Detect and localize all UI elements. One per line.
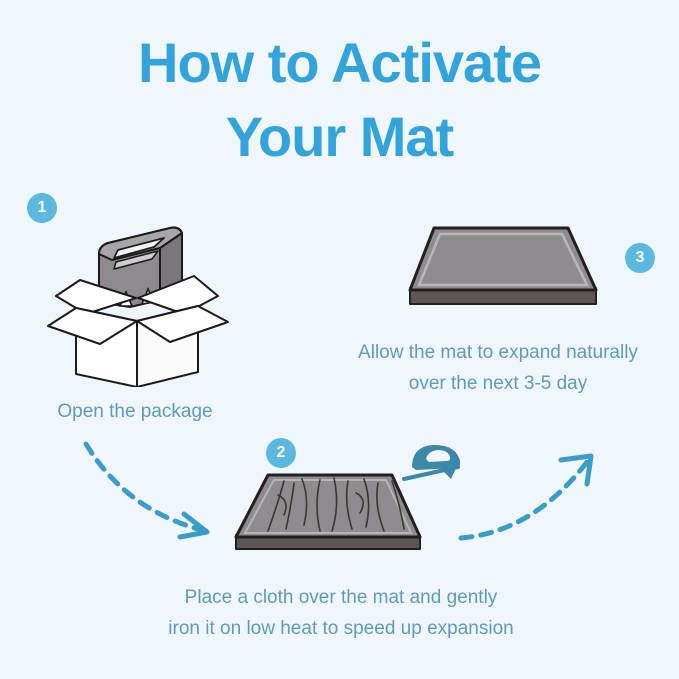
- flat-expanded-mat-illustration: [400, 220, 605, 320]
- title-line-2: Your Mat: [0, 100, 679, 174]
- step-caption-3-line-2: over the next 3-5 day: [318, 368, 678, 399]
- curved-dashed-arrow-up-right-icon: [455, 440, 605, 555]
- step-badge-1: 1: [27, 193, 57, 223]
- wrinkled-mat-illustration: [228, 465, 428, 565]
- step-caption-1: Open the package: [10, 396, 260, 427]
- page-title: How to Activate Your Mat: [0, 26, 679, 174]
- step-caption-2-line-1: Place a cloth over the mat and gently: [106, 582, 576, 613]
- step-badge-3: 3: [625, 243, 655, 273]
- step-caption-3: Allow the mat to expand naturally over t…: [318, 337, 678, 399]
- curved-dashed-arrow-down-right-icon: [80, 438, 230, 553]
- step-caption-3-line-1: Allow the mat to expand naturally: [318, 337, 678, 368]
- step-caption-2-line-2: iron it on low heat to speed up expansio…: [106, 613, 576, 644]
- open-box-illustration: [42, 222, 232, 392]
- infographic-canvas: How to Activate Your Mat 1: [0, 0, 679, 679]
- step-badge-2: 2: [266, 438, 296, 468]
- title-line-1: How to Activate: [0, 26, 679, 100]
- step-caption-2: Place a cloth over the mat and gently ir…: [106, 582, 576, 644]
